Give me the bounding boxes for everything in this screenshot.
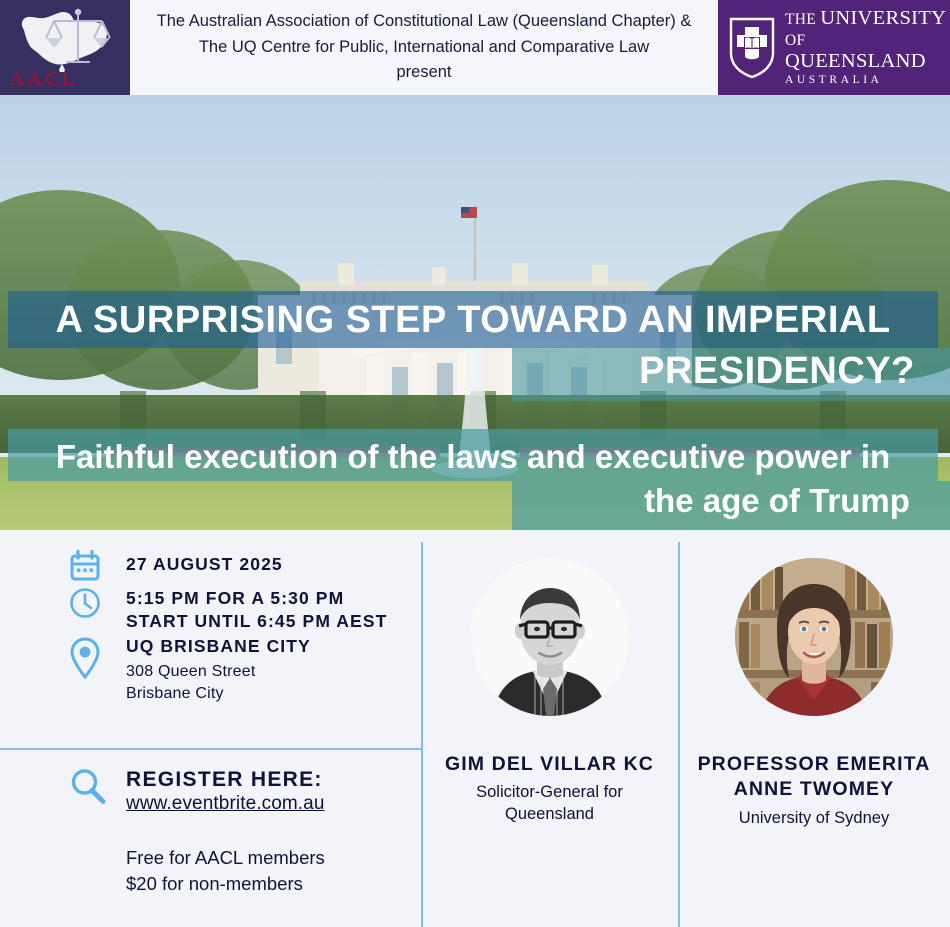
event-subtitle-line-1: Faithful execution of the laws and execu… [8, 438, 938, 476]
location-row: UQ BRISBANE CITY 308 Queen Street Brisba… [68, 635, 421, 704]
event-title-line-1: A SURPRISING STEP TOWARD AN IMPERIAL [8, 299, 938, 342]
fees-block: Free for AACL members $20 for non-member… [68, 845, 421, 898]
event-info-column: 27 AUGUST 2025 5:15 PM FOR A 5:30 PM STA… [0, 530, 421, 927]
event-poster: AACL The Australian Association of Const… [0, 0, 950, 927]
magnifier-icon-cell [68, 766, 126, 807]
presenter-line-2: The UQ Centre for Public, International … [199, 35, 649, 61]
clock-icon-cell [68, 585, 126, 620]
presenter-line-1: The Australian Association of Constituti… [157, 9, 692, 35]
calendar-icon-cell [68, 548, 126, 583]
event-address-line-2: Brisbane City [126, 683, 311, 705]
speaker-column-1: GIM DEL VILLAR KC Solicitor-General for … [421, 530, 678, 927]
uq-shield-crest-icon [728, 17, 776, 79]
uq-line2-small: OF [785, 32, 805, 49]
event-title-line-2: PRESIDENCY? [512, 350, 950, 393]
speaker-1-portrait [471, 558, 629, 716]
clock-icon [68, 586, 102, 620]
eventbrite-link[interactable]: www.eventbrite.com.au [126, 793, 325, 815]
speaker-1-role: Solicitor-General for Queensland [427, 782, 672, 826]
title-band-2: PRESIDENCY? [512, 348, 950, 401]
uq-line2: QUEENSLAND [785, 50, 926, 72]
speaker-2-text: PROFESSOR EMERITA ANNE TWOMEY University… [678, 752, 950, 829]
speaker-2-name-line-2: ANNE TWOMEY [684, 777, 944, 802]
uq-logo: THE UNIVERSITY OF QUEENSLAND AUSTRALIA [718, 0, 950, 95]
event-time-line-2: START UNTIL 6:45 PM AEST [126, 610, 387, 633]
speaker-1-role-line-1: Solicitor-General for [427, 782, 672, 804]
aacl-logo: AACL [0, 0, 130, 95]
fee-non-members: $20 for non-members [126, 871, 421, 897]
register-block: REGISTER HERE: www.eventbrite.com.au Fre… [0, 766, 421, 898]
subtitle-band-1: Faithful execution of the laws and execu… [8, 429, 938, 481]
presenter-text: The Australian Association of Constituti… [130, 0, 718, 95]
event-address: 308 Queen Street Brisbane City [126, 661, 311, 704]
speaker-1-text: GIM DEL VILLAR KC Solicitor-General for … [421, 752, 678, 826]
speaker-column-2: PROFESSOR EMERITA ANNE TWOMEY University… [678, 530, 950, 927]
poster-header: AACL The Australian Association of Const… [0, 0, 950, 95]
speaker-2-portrait [735, 558, 893, 716]
magnifier-icon [68, 767, 108, 807]
event-time: 5:15 PM FOR A 5:30 PM START UNTIL 6:45 P… [126, 585, 387, 633]
hero-section: A SURPRISING STEP TOWARD AN IMPERIAL PRE… [0, 95, 950, 530]
hero-title-block: A SURPRISING STEP TOWARD AN IMPERIAL PRE… [0, 95, 950, 530]
event-venue: UQ BRISBANE CITY [126, 636, 311, 657]
map-pin-icon [68, 636, 102, 680]
date-row: 27 AUGUST 2025 [68, 548, 421, 583]
speaker-1-photo [471, 558, 629, 716]
uq-line1: UNIVERSITY [820, 7, 946, 29]
subtitle-band-2: the age of Trump [512, 481, 950, 530]
speaker-1-name: GIM DEL VILLAR KC [427, 752, 672, 777]
event-time-line-1: 5:15 PM FOR A 5:30 PM [126, 587, 387, 610]
map-pin-icon-cell [68, 635, 126, 680]
speaker-2-photo [735, 558, 893, 716]
uq-logo-text: THE UNIVERSITY OF QUEENSLAND AUSTRALIA [785, 8, 950, 87]
event-address-line-1: 308 Queen Street [126, 661, 311, 683]
time-row: 5:15 PM FOR A 5:30 PM START UNTIL 6:45 P… [68, 585, 421, 633]
aacl-logo-text: AACL [10, 69, 78, 91]
speaker-2-role: University of Sydney [684, 808, 944, 830]
fee-members: Free for AACL members [126, 845, 421, 871]
poster-details-section: 27 AUGUST 2025 5:15 PM FOR A 5:30 PM STA… [0, 530, 950, 927]
speaker-2-name: PROFESSOR EMERITA ANNE TWOMEY [684, 752, 944, 803]
register-heading: REGISTER HERE: [126, 768, 325, 792]
title-band-1: A SURPRISING STEP TOWARD AN IMPERIAL [8, 291, 938, 348]
event-date: 27 AUGUST 2025 [126, 548, 283, 575]
calendar-icon [68, 549, 102, 583]
speaker-2-name-line-1: PROFESSOR EMERITA [684, 752, 944, 777]
presenter-line-3: present [396, 60, 451, 86]
uq-line3: AUSTRALIA [785, 75, 950, 87]
event-location: UQ BRISBANE CITY 308 Queen Street Brisba… [126, 635, 311, 704]
australia-map-scales-graphic [6, 4, 124, 72]
event-subtitle-line-2: the age of Trump [512, 482, 950, 520]
uq-line1-small: THE [785, 11, 820, 28]
speaker-1-role-line-2: Queensland [427, 804, 672, 826]
speaker-2-role-line-1: University of Sydney [684, 808, 944, 830]
